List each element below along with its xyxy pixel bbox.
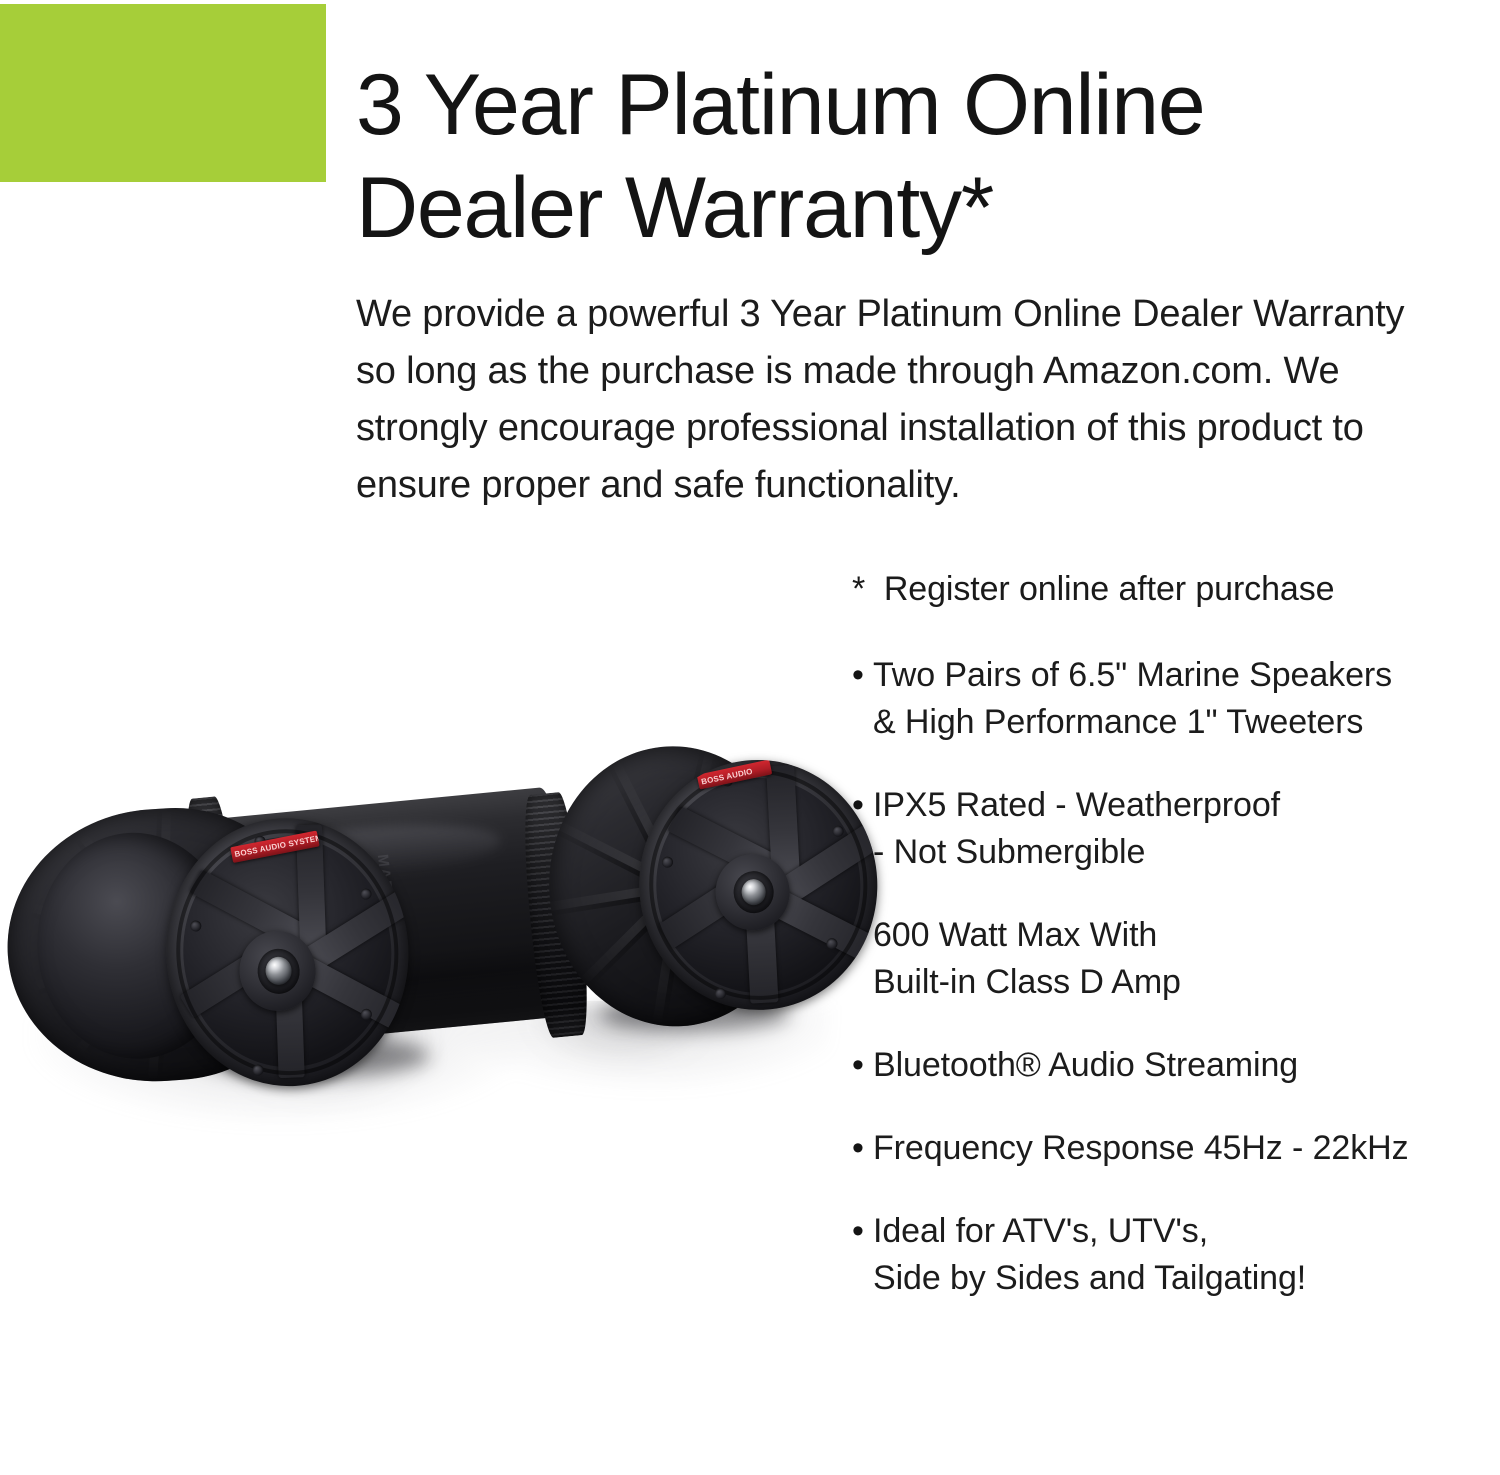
bullet-icon: • <box>852 652 873 698</box>
speaker-pod-left: BOSS AUDIO SYSTEMS <box>0 771 439 1129</box>
feature-text: Two Pairs of 6.5" Marine Speakers & High… <box>873 652 1500 746</box>
speaker-pod-right: BOSS AUDIO <box>512 726 889 1074</box>
page-title: 3 Year Platinum Online Dealer Warranty* <box>356 54 1366 260</box>
feature-text: Frequency Response 45Hz - 22kHz <box>873 1125 1500 1172</box>
mounting-screw <box>715 988 727 1000</box>
warranty-description-paragraph: We provide a powerful 3 Year Platinum On… <box>356 286 1406 514</box>
list-item: • Ideal for ATV's, UTV's, Side by Sides … <box>852 1208 1500 1302</box>
green-accent-block <box>0 4 326 182</box>
list-item: • Two Pairs of 6.5" Marine Speakers & Hi… <box>852 652 1500 746</box>
list-item: • Bluetooth® Audio Streaming <box>852 1042 1500 1089</box>
mounting-screw <box>252 1064 264 1076</box>
feature-text: IPX5 Rated - Weatherproof - Not Submergi… <box>873 782 1500 876</box>
feature-list: * Register online after purchase • Two P… <box>852 566 1500 1338</box>
product-image-speaker-pods: BOSS MARINE <box>0 705 880 1265</box>
list-item: • IPX5 Rated - Weatherproof - Not Submer… <box>852 782 1500 876</box>
feature-text: Ideal for ATV's, UTV's, Side by Sides an… <box>873 1208 1500 1302</box>
feature-text: 600 Watt Max With Built-in Class D Amp <box>873 912 1500 1006</box>
registration-footnote: * Register online after purchase <box>852 566 1500 612</box>
feature-text: Bluetooth® Audio Streaming <box>873 1042 1500 1089</box>
list-item: • 600 Watt Max With Built-in Class D Amp <box>852 912 1500 1006</box>
list-item: • Frequency Response 45Hz - 22kHz <box>852 1125 1500 1172</box>
